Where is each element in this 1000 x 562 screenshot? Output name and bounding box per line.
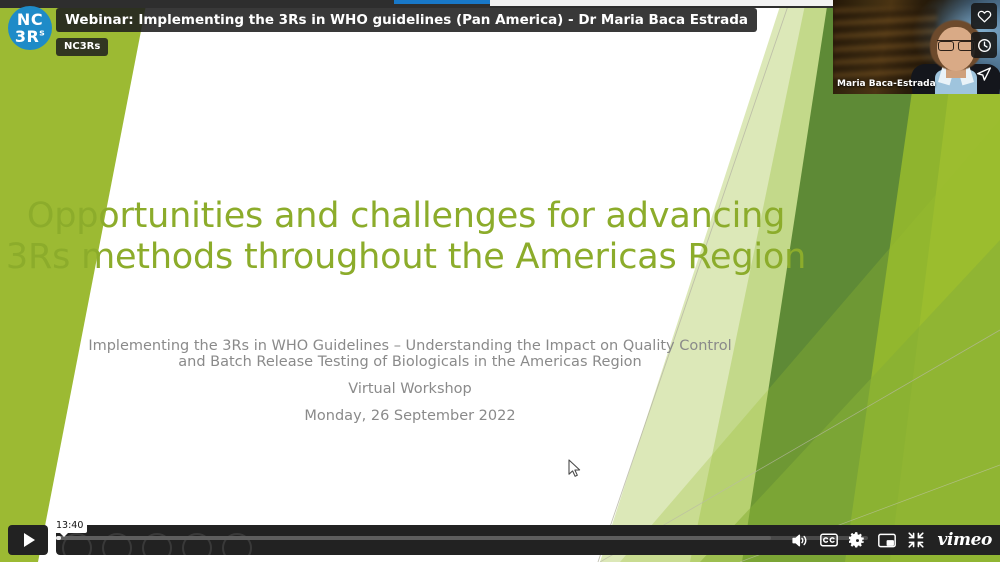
- channel-badge[interactable]: NC3Rs: [56, 38, 108, 56]
- player-controls[interactable]: vimeo 13:40: [0, 520, 1000, 562]
- play-button[interactable]: [8, 525, 48, 555]
- exit-fullscreen-icon[interactable]: [907, 531, 925, 549]
- slide-subtitle-block: Implementing the 3Rs in WHO Guidelines –…: [0, 338, 820, 424]
- slide-subtitle-date: Monday, 26 September 2022: [0, 408, 820, 424]
- picture-in-picture-icon[interactable]: [878, 531, 896, 549]
- controls-bar-background: vimeo: [56, 525, 1000, 555]
- scrubber-buffered: [56, 536, 771, 540]
- vimeo-video-player[interactable]: Opportunities and challenges for advanci…: [0, 0, 1000, 562]
- share-icon[interactable]: [971, 61, 997, 87]
- play-icon: [24, 533, 35, 547]
- closed-captions-icon[interactable]: [820, 531, 838, 549]
- speaker-name-label: Maria Baca-Estrada: [837, 79, 936, 89]
- like-icon[interactable]: [971, 3, 997, 29]
- scrubber-time-tooltip: 13:40: [52, 518, 87, 533]
- progress-scrubber[interactable]: [56, 534, 868, 542]
- speaker-webcam-overlay[interactable]: Maria Baca-Estrada: [833, 0, 1000, 94]
- glasses-icon: [937, 40, 975, 50]
- vimeo-logo[interactable]: vimeo: [938, 530, 992, 550]
- browser-tab-background: [490, 0, 845, 6]
- slide-subtitle-workshop-name: Implementing the 3Rs in WHO Guidelines –…: [0, 338, 820, 370]
- controls-right-group[interactable]: vimeo: [791, 525, 992, 555]
- nc3rs-logo: NC 3Rs: [8, 6, 52, 50]
- nc3rs-logo-line1: NC: [17, 12, 43, 28]
- slide-title: Opportunities and challenges for advanci…: [0, 196, 812, 278]
- slide-subtitle-event-type: Virtual Workshop: [0, 381, 820, 397]
- browser-active-tab-indicator[interactable]: [394, 0, 490, 4]
- volume-icon[interactable]: [791, 531, 809, 549]
- nc3rs-logo-line2: 3Rs: [15, 29, 45, 45]
- webcam-action-buttons[interactable]: [971, 3, 997, 87]
- watch-later-icon[interactable]: [971, 32, 997, 58]
- gear-icon[interactable]: [849, 531, 867, 549]
- video-title[interactable]: Webinar: Implementing the 3Rs in WHO gui…: [56, 8, 757, 32]
